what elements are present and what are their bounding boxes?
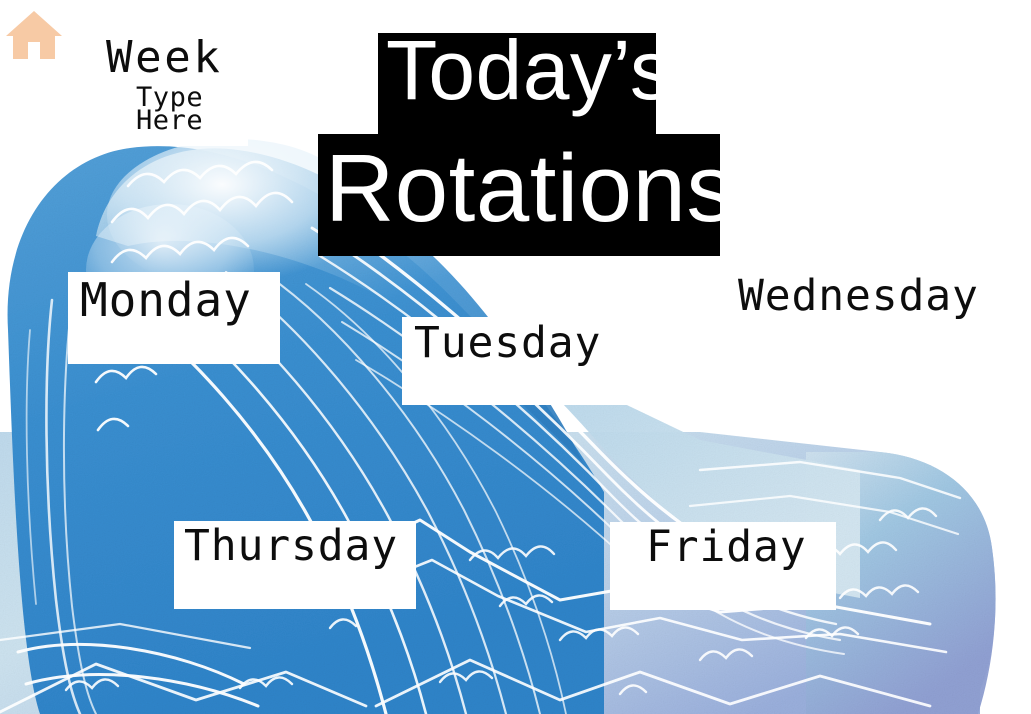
day-label-wednesday[interactable]: Wednesday [738, 271, 979, 321]
week-heading: Week [106, 36, 223, 80]
page-title-line2: Rotations [325, 141, 735, 237]
day-label-thursday[interactable]: Thursday [184, 521, 398, 571]
day-label-friday[interactable]: Friday [646, 522, 807, 572]
page-title-line1: Today’s [386, 28, 672, 112]
home-icon[interactable] [4, 6, 64, 64]
day-label-tuesday[interactable]: Tuesday [414, 318, 601, 368]
day-label-monday[interactable]: Monday [80, 273, 252, 327]
slide-canvas: Week Type Here Today’s Rotations Monday … [0, 0, 1031, 714]
week-placeholder[interactable]: Type Here [136, 86, 203, 132]
week-placeholder-line2: Here [136, 109, 203, 132]
